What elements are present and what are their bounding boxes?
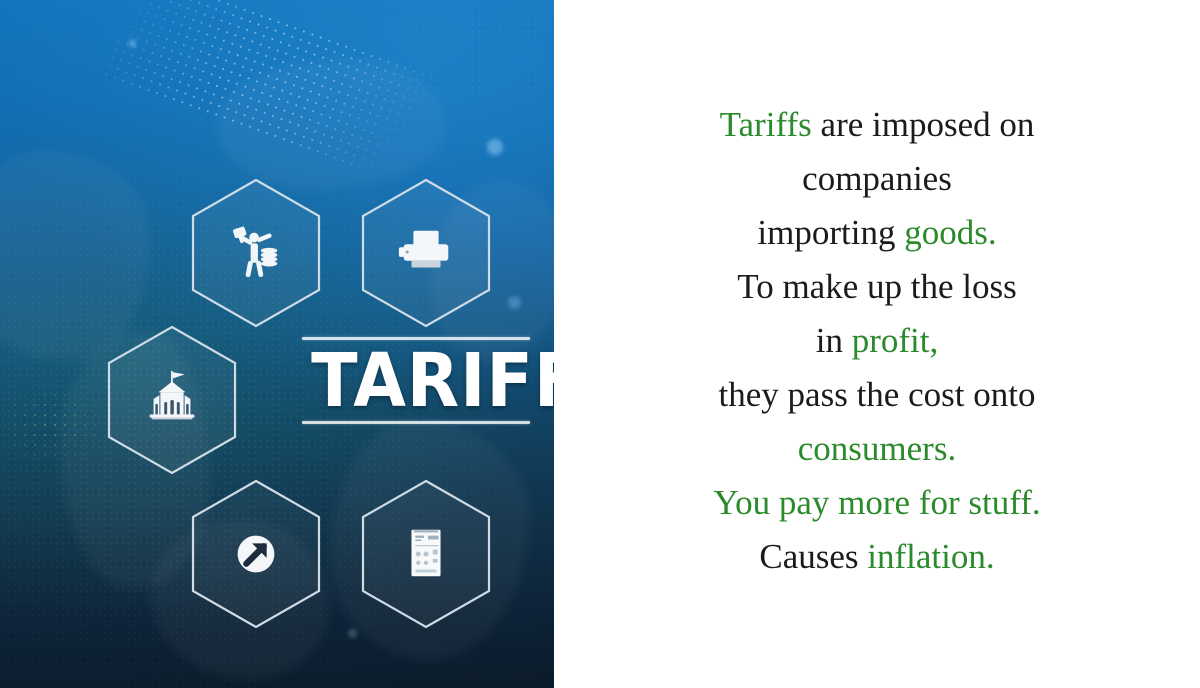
hexagon-printer (359, 177, 493, 329)
hexagon-invoice (359, 478, 493, 630)
invoice-document-icon (395, 523, 457, 585)
caption-highlight: consumers. (798, 429, 956, 468)
green-particle-cluster (0, 380, 110, 470)
caption-highlight: Tariffs (720, 105, 812, 144)
government-building-flag-icon (141, 369, 203, 431)
caption-segment: To make up the loss (737, 267, 1016, 306)
caption-line: Tariffs are imposed on (627, 98, 1127, 152)
bokeh-dot (348, 629, 357, 638)
hexagon-government-building (105, 324, 239, 476)
caption-highlight: goods. (904, 213, 996, 252)
tariff-graphic-panel: TARIFF (0, 0, 554, 688)
printer-icon (395, 222, 457, 284)
caption-segment: in (816, 321, 852, 360)
caption-panel: Tariffs are imposed oncompaniesimporting… (554, 0, 1200, 688)
caption-segment: importing (757, 213, 904, 252)
caption-highlight: inflation. (867, 537, 994, 576)
caption-line: To make up the loss (627, 260, 1127, 314)
caption-segment: Causes (759, 537, 867, 576)
bokeh-dot (508, 296, 521, 309)
caption-text: Tariffs are imposed oncompaniesimporting… (627, 98, 1127, 583)
tariff-wordmark: TARIFF (302, 337, 530, 424)
caption-highlight: You pay more for stuff. (713, 483, 1040, 522)
caption-line: they pass the cost onto (627, 368, 1127, 422)
caption-line: You pay more for stuff. (627, 476, 1127, 530)
hexagon-gavel (189, 177, 323, 329)
caption-line: in profit, (627, 314, 1127, 368)
bokeh-dot (129, 40, 136, 47)
person-with-gavel-and-coins-icon (225, 222, 287, 284)
caption-line: Causes inflation. (627, 530, 1127, 584)
caption-segment: they pass the cost onto (719, 375, 1036, 414)
caption-segment: are imposed on (812, 105, 1035, 144)
caption-highlight: profit, (852, 321, 939, 360)
slide-root: TARIFF Tariffs are imposed oncompaniesim… (0, 0, 1200, 688)
caption-line: companies (627, 152, 1127, 206)
bokeh-dot (487, 139, 503, 155)
wordmark-text: TARIFF (311, 347, 521, 415)
hexagon-growth-arrow (189, 478, 323, 630)
arrow-up-right-circle-icon (225, 523, 287, 585)
caption-line: consumers. (627, 422, 1127, 476)
caption-segment: companies (802, 159, 952, 198)
caption-line: importing goods. (627, 206, 1127, 260)
